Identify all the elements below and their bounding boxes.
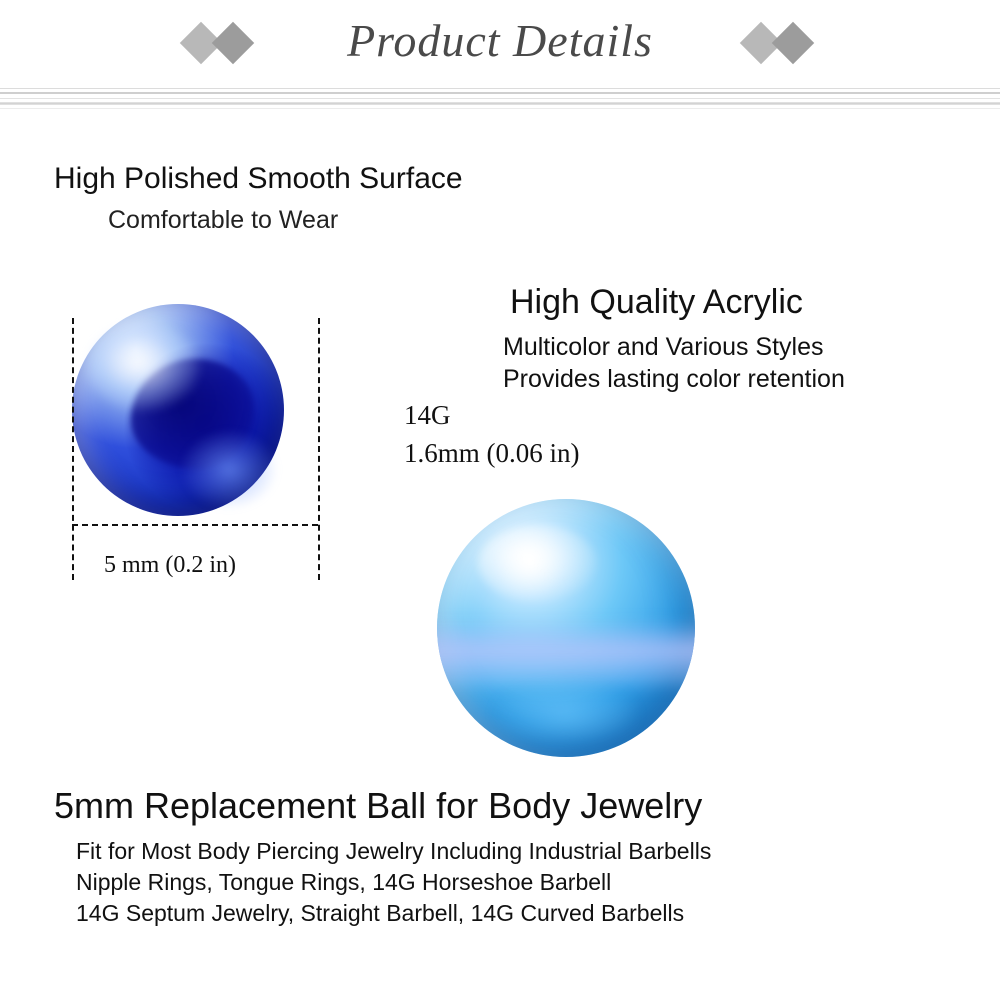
material-line-1: Multicolor and Various Styles [503,333,824,362]
surface-subline: Comfortable to Wear [108,206,338,235]
measure-width-label: 5 mm (0.2 in) [104,552,236,579]
header-diamond-ornament-right [746,28,808,58]
list-item: Fit for Most Body Piercing Jewelry Inclu… [76,836,976,867]
divider-line [0,98,1000,99]
material-headline: High Quality Acrylic [510,283,803,322]
page-header: Product Details [0,0,1000,108]
divider-line [0,88,1000,89]
measure-guide-right [318,318,320,580]
gauge-mm-label: 1.6mm (0.06 in) [404,438,580,469]
product-image-blue-swirl-ball [66,300,296,520]
measure-guide-left [72,318,74,580]
diamond-icon [772,22,814,64]
ball-highlight [478,525,597,602]
material-line-2: Provides lasting color retention [503,365,845,394]
header-divider [0,88,1000,110]
divider-line [0,102,1000,105]
divider-line [0,92,1000,94]
compatibility-list: Fit for Most Body Piercing Jewelry Inclu… [76,836,976,929]
ball-highlight [89,325,199,410]
gauge-label: 14G [404,400,451,431]
product-image-light-blue-ball [437,499,695,757]
list-item: Nipple Rings, Tongue Rings, 14G Horsesho… [76,867,976,898]
surface-headline: High Polished Smooth Surface [54,162,463,196]
page-title: Product Details [0,14,1000,67]
product-headline: 5mm Replacement Ball for Body Jewelry [54,785,702,827]
ball-lower-glow [494,680,638,747]
ball-color-band [437,620,695,687]
blue-swirl-ball-graphic [72,304,284,516]
measure-guide-width [72,524,318,526]
divider-line [0,108,1000,109]
list-item: 14G Septum Jewelry, Straight Barbell, 14… [76,898,976,929]
ball-lower-glow [182,431,275,507]
